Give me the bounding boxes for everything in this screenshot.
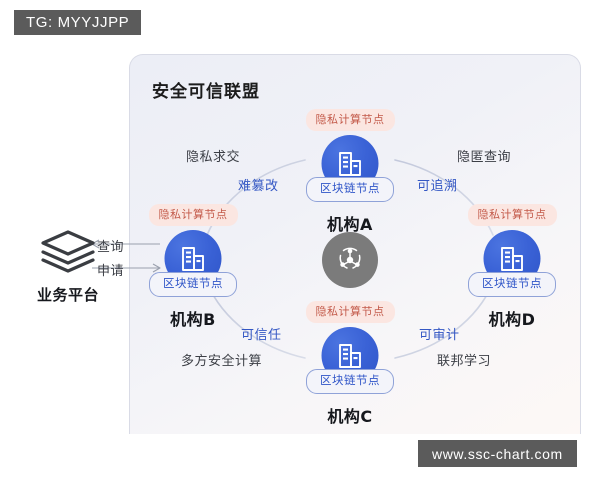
org-node-label: 机构A: [275, 211, 425, 235]
org-node-b[interactable]: 隐私计算节点 区块链节点 机构B: [118, 203, 268, 330]
layers-icon: [37, 228, 99, 274]
privacy-compute-badge: 隐私计算节点: [149, 204, 238, 226]
arc-label-auditable: 可审计: [419, 324, 460, 343]
office-building-icon: [497, 244, 527, 274]
office-building-icon: [335, 341, 365, 371]
privacy-compute-badge: 隐私计算节点: [306, 109, 395, 131]
flow-label-apply: 申请: [97, 260, 124, 279]
diagram-canvas: 安全可信联盟: [0, 0, 600, 480]
watermark-bottom-right: www.ssc-chart.com: [418, 440, 577, 467]
privacy-compute-badge: 隐私计算节点: [468, 204, 557, 226]
blockchain-node-pill: 区块链节点: [306, 177, 394, 202]
business-platform-label: 业务平台: [18, 284, 118, 305]
node-circle-wrap: 区块链节点: [275, 135, 425, 199]
office-building-icon: [335, 149, 365, 179]
org-node-c[interactable]: 隐私计算节点 区块链节点 机构C: [275, 300, 425, 427]
flow-label-query: 查询: [97, 236, 124, 255]
node-circle-wrap: 区块链节点: [275, 327, 425, 391]
network-hub-icon: [333, 243, 367, 277]
blockchain-node-pill: 区块链节点: [149, 272, 237, 297]
arc-label-federated-learning: 联邦学习: [437, 350, 491, 369]
org-node-d[interactable]: 隐私计算节点 区块链节点 机构D: [437, 203, 587, 330]
arc-label-anonymous-query: 隐匿查询: [457, 146, 511, 165]
blockchain-node-pill: 区块链节点: [306, 369, 394, 394]
privacy-compute-badge: 隐私计算节点: [306, 301, 395, 323]
blockchain-node-pill: 区块链节点: [468, 272, 556, 297]
org-node-label: 机构C: [275, 403, 425, 427]
arc-label-tamper-resistant: 难篡改: [238, 175, 279, 194]
node-circle-wrap: 区块链节点: [437, 230, 587, 294]
arc-label-trustworthy: 可信任: [241, 324, 282, 343]
org-node-a[interactable]: 隐私计算节点 区块链节点 机构A: [275, 108, 425, 235]
arc-label-secure-multiparty-computation: 多方安全计算: [181, 350, 262, 369]
network-hub: [322, 232, 378, 288]
office-building-icon: [178, 244, 208, 274]
arc-label-private-set-intersection: 隐私求交: [186, 146, 240, 165]
watermark-top-left: TG: MYYJJPP: [14, 10, 141, 35]
panel-title: 安全可信联盟: [152, 77, 260, 102]
arc-label-traceable: 可追溯: [417, 175, 458, 194]
node-circle-wrap: 区块链节点: [118, 230, 268, 294]
